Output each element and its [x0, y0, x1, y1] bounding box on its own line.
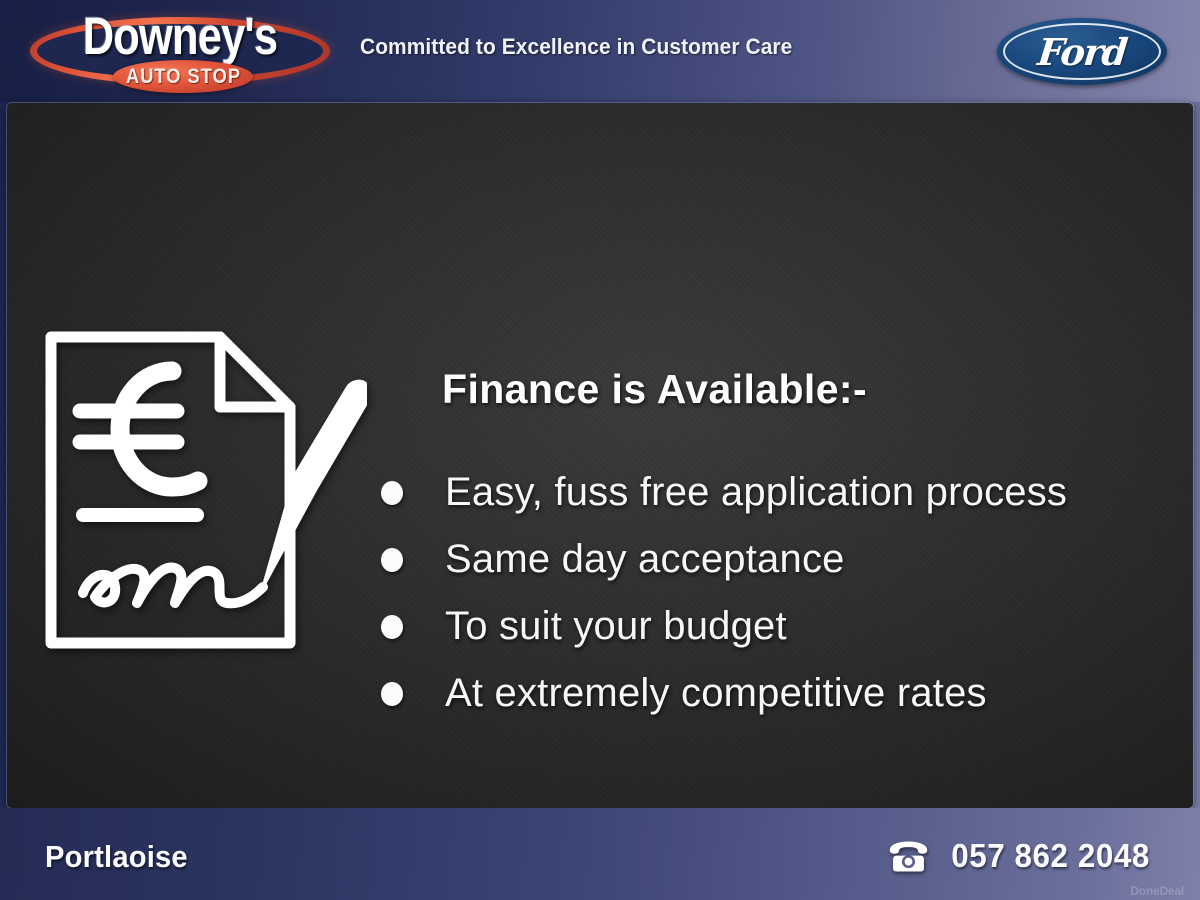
- logo-sub-name: AUTO STOP: [125, 65, 240, 89]
- banner-footer: Portlaoise 057 862 2048 DoneDeal: [0, 808, 1200, 900]
- site-watermark: DoneDeal: [1130, 884, 1184, 898]
- list-item: At extremely competitive rates: [381, 660, 1171, 727]
- list-item-label: To suit your budget: [445, 604, 787, 649]
- panel-content: Finance is Available:- Easy, fuss free a…: [7, 103, 1193, 808]
- ford-logo-text: Ford: [1036, 30, 1129, 74]
- banner-header: Downey's AUTO STOP Committed to Excellen…: [0, 0, 1200, 102]
- bullet-dot-icon: [381, 481, 403, 505]
- phone-number: 057 862 2048: [951, 837, 1150, 875]
- logo-sub-badge: AUTO STOP: [113, 60, 253, 93]
- finance-benefits-list: Easy, fuss free application process Same…: [381, 459, 1171, 727]
- bullet-dot-icon: [381, 615, 403, 639]
- euro-symbol: [80, 371, 198, 487]
- dealer-finance-banner: Downey's AUTO STOP Committed to Excellen…: [0, 0, 1200, 900]
- header-tagline: Committed to Excellence in Customer Care: [360, 34, 792, 60]
- list-item: To suit your budget: [381, 593, 1171, 660]
- telephone-icon: [887, 840, 930, 873]
- finance-document-signature-icon: [37, 325, 367, 655]
- contact-phone[interactable]: 057 862 2048: [887, 837, 1155, 875]
- bullet-dot-icon: [381, 682, 403, 706]
- downeys-logo[interactable]: Downey's AUTO STOP: [25, 3, 335, 99]
- list-item-label: Same day acceptance: [445, 537, 845, 582]
- finance-headline: Finance is Available:-: [442, 366, 867, 413]
- branch-location: Portlaoise: [45, 839, 188, 875]
- list-item-label: Easy, fuss free application process: [445, 470, 1067, 515]
- list-item-label: At extremely competitive rates: [445, 671, 987, 716]
- bullet-dot-icon: [381, 548, 403, 572]
- logo-brand-name: Downey's: [53, 9, 307, 65]
- list-item: Easy, fuss free application process: [381, 459, 1171, 526]
- list-item: Same day acceptance: [381, 526, 1171, 593]
- main-panel: Finance is Available:- Easy, fuss free a…: [7, 103, 1193, 808]
- ford-logo[interactable]: Ford: [997, 18, 1167, 85]
